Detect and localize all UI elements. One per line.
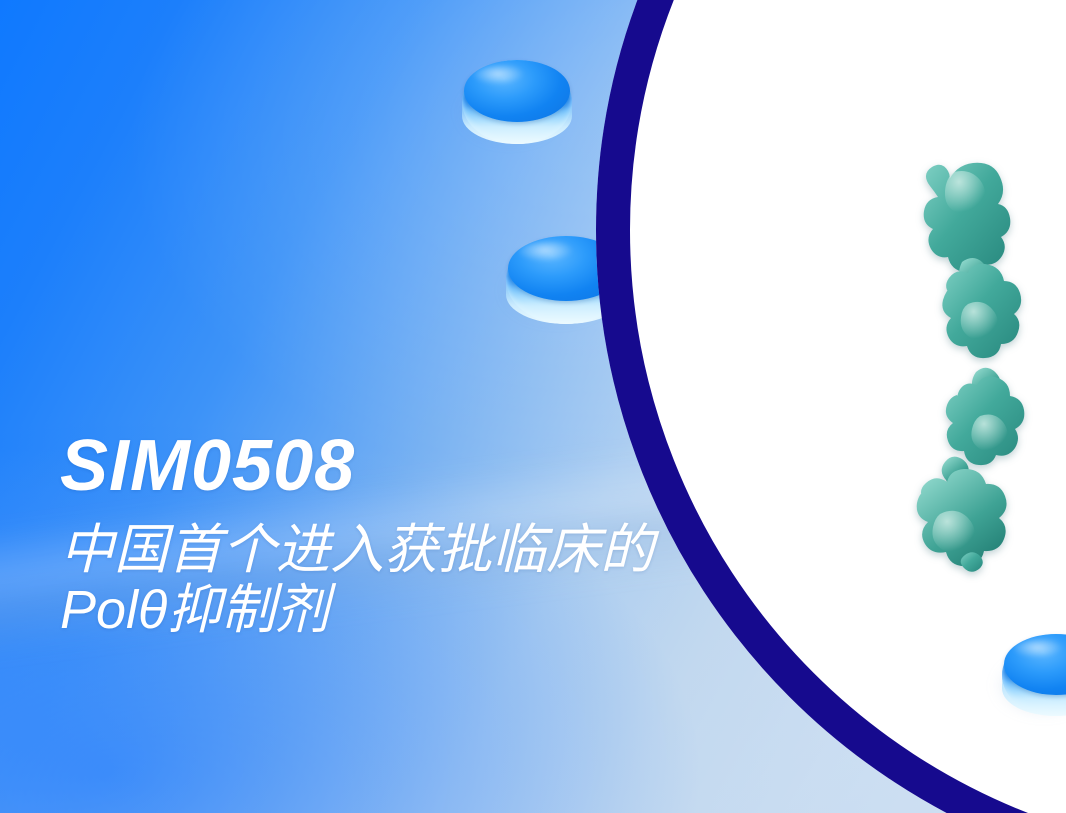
- polymerase-theta-protein-ribbon: [880, 150, 1060, 580]
- page-title: SIM0508: [60, 430, 840, 502]
- subtitle-line-2: Polθ抑制剂: [60, 580, 840, 640]
- subtitle-line-1: 中国首个进入获批临床的: [60, 520, 840, 580]
- page-subtitle: 中国首个进入获批临床的 Polθ抑制剂: [60, 520, 840, 641]
- headline-block: SIM0508 中国首个进入获批临床的 Polθ抑制剂: [60, 430, 840, 641]
- poster-canvas: SIM0508 中国首个进入获批临床的 Polθ抑制剂: [0, 0, 1066, 813]
